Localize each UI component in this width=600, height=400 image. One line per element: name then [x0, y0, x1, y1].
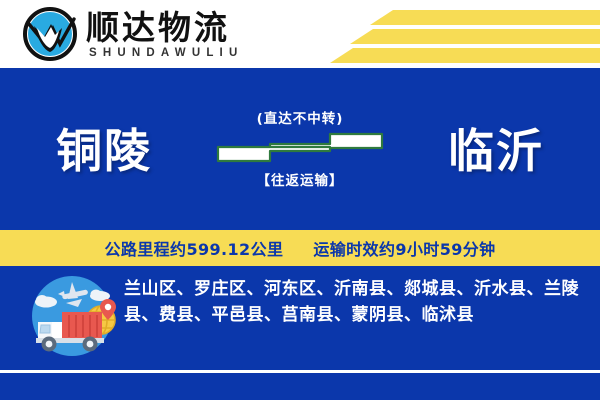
truck-globe-plane-icon — [18, 272, 126, 360]
origin-city: 铜陵 — [56, 115, 152, 181]
brand-name-cn: 顺达物流 — [86, 11, 243, 46]
route-section: 铜陵 (直达不中转) 【往返运输】 临沂 — [0, 68, 600, 228]
footer-band — [0, 373, 600, 400]
header: 顺达物流 SHUNDAWULIU — [0, 0, 600, 68]
route-middle: (直达不中转) 【往返运输】 — [200, 107, 400, 189]
logistics-route-banner: 顺达物流 SHUNDAWULIU 铜陵 (直达不中转) 【往返运输】 临沂 公路… — [0, 0, 600, 400]
duration-text: 运输时效约9小时59分钟 — [313, 240, 495, 259]
brand-wordmark: 顺达物流 SHUNDAWULIU — [86, 9, 243, 60]
distance-text: 公路里程约599.12公里 — [104, 240, 283, 259]
destination-city: 临沂 — [448, 115, 544, 181]
decorative-stripes — [300, 0, 600, 68]
info-bar: 公路里程约599.12公里 运输时效约9小时59分钟 — [0, 230, 600, 266]
info-bar-content: 公路里程约599.12公里 运输时效约9小时59分钟 — [104, 236, 495, 260]
coverage-section: 兰山区、罗庄区、河东区、沂南县、郯城县、沂水县、兰陵县、费县、平邑县、莒南县、蒙… — [0, 266, 600, 370]
route-note-top: (直达不中转) — [200, 107, 400, 127]
double-arrow-icon — [200, 130, 400, 166]
brand-name-en: SHUNDAWULIU — [86, 47, 243, 59]
brand-logo: 顺达物流 SHUNDAWULIU — [20, 4, 243, 64]
route-note-bottom: 【往返运输】 — [200, 169, 400, 189]
circle-w-logo-icon — [20, 4, 80, 64]
district-list: 兰山区、罗庄区、河东区、沂南县、郯城县、沂水县、兰陵县、费县、平邑县、莒南县、蒙… — [124, 276, 584, 329]
